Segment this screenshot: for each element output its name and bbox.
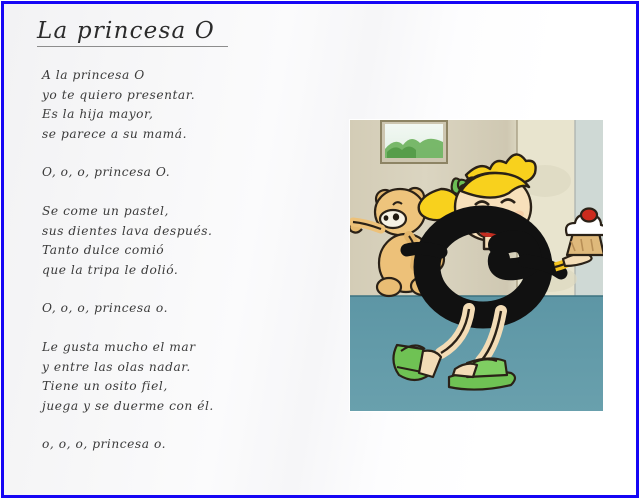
- poem-line: Le gusta mucho el mar: [42, 338, 322, 358]
- slide-canvas: La princesa O A la princesa O yo te quie…: [0, 0, 640, 499]
- poem-stanza: Le gusta mucho el mar y entre las olas n…: [42, 338, 322, 416]
- page-title: La princesa O: [37, 17, 257, 45]
- poem-stanza: Se come un pastel, sus dientes lava desp…: [42, 202, 322, 280]
- poem-line: yo te quiero presentar.: [42, 86, 322, 106]
- poem-refrain: O, o, o, princesa o.: [42, 299, 322, 319]
- illustration-image: [349, 119, 604, 412]
- poem-line: O, o, o, princesa O.: [42, 163, 322, 183]
- poem-body: A la princesa O yo te quiero presentar. …: [42, 66, 322, 455]
- poem-line: A la princesa O: [42, 66, 322, 86]
- poem-line: que la tripa le dolió.: [42, 261, 322, 281]
- poem-line: o, o, o, princesa o.: [42, 435, 322, 455]
- poem-line: Es la hija mayor,: [42, 105, 322, 125]
- poem-line: Tiene un osito fiel,: [42, 377, 322, 397]
- poem-line: Tanto dulce comió: [42, 241, 322, 261]
- poem-line: O, o, o, princesa o.: [42, 299, 322, 319]
- princess-o-illustration: [349, 119, 604, 412]
- slide-page: La princesa O A la princesa O yo te quie…: [4, 4, 636, 495]
- poem-refrain: O, o, o, princesa O.: [42, 163, 322, 183]
- poem-line: juega y se duerme con él.: [42, 397, 322, 417]
- poem-line: Se come un pastel,: [42, 202, 322, 222]
- poem-line: sus dientes lava después.: [42, 222, 322, 242]
- poem-line: y entre las olas nadar.: [42, 358, 322, 378]
- poem-line: se parece a su mamá.: [42, 125, 322, 145]
- window-icon: [381, 121, 447, 163]
- poem-refrain: o, o, o, princesa o.: [42, 435, 322, 455]
- poem-stanza: A la princesa O yo te quiero presentar. …: [42, 66, 322, 144]
- page-title-block: La princesa O: [37, 17, 257, 47]
- title-underline: [37, 46, 228, 47]
